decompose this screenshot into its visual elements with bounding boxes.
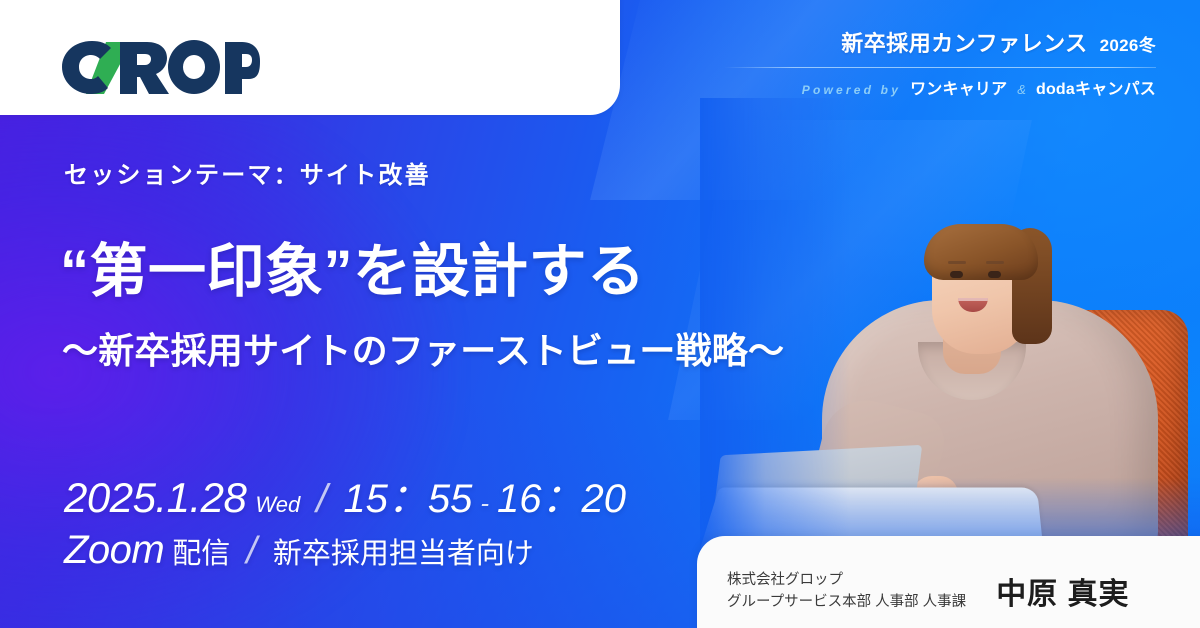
eye-left <box>950 271 963 278</box>
delivery-audience: 新卒採用担当者向け <box>273 530 534 572</box>
eyebrow-right <box>986 261 1004 264</box>
conference-header: 新卒採用カンファレンス 2026冬 Powered by ワンキャリア & do… <box>716 26 1156 99</box>
datetime-separator: / <box>316 477 327 522</box>
powered-by-row: Powered by ワンキャリア & dodaキャンパス <box>716 75 1156 99</box>
speaker-department: グループサービス本部 人事部 人事課 <box>727 591 966 613</box>
speaker-name: 中原 真実 <box>996 569 1129 613</box>
ampersand-separator: & <box>1016 82 1027 97</box>
delivery-platform-suffix: 配信 <box>172 530 230 572</box>
speaker-company: 株式会社グロップ <box>727 569 966 591</box>
delivery-separator: / <box>246 530 257 573</box>
partner-doda-campus: dodaキャンパス <box>1036 75 1156 99</box>
conference-title-row: 新卒採用カンファレンス 2026冬 <box>716 26 1156 58</box>
delivery-info: Zoom 配信 / 新卒採用担当者向け <box>64 528 534 573</box>
event-end-time: 16：20 <box>497 466 626 524</box>
conference-title: 新卒採用カンファレンス <box>841 26 1087 58</box>
event-day-of-week: Wed <box>255 492 300 518</box>
event-date: 2025.1.28 <box>64 474 246 522</box>
session-theme-label: セッションテーマ：サイト改善 <box>64 155 431 190</box>
delivery-platform: Zoom <box>64 528 164 573</box>
event-start-time: 15：55 <box>343 466 472 524</box>
partner-onecareer: ワンキャリア <box>910 75 1007 99</box>
schedule-datetime: 2025.1.28 Wed / 15：55 - 16：20 <box>64 466 626 524</box>
webinar-banner: 新卒採用カンファレンス 2026冬 Powered by ワンキャリア & do… <box>0 0 1200 628</box>
time-range-dash: - <box>480 488 489 519</box>
eyebrow-left <box>948 261 966 264</box>
logo-plate <box>0 0 620 115</box>
session-subtitle: 〜新卒採用サイトのファーストビュー戦略〜 <box>62 322 784 374</box>
eye-right <box>988 271 1001 278</box>
speaker-affiliation: 株式会社グロップ グループサービス本部 人事部 人事課 <box>727 569 966 614</box>
hair-fringe <box>924 224 1038 280</box>
header-divider <box>724 67 1156 68</box>
session-title: “第一印象”を設計する <box>60 240 646 304</box>
speaker-credit-panel: 株式会社グロップ グループサービス本部 人事部 人事課 中原 真実 <box>697 536 1200 628</box>
grop-logo-icon <box>60 36 260 98</box>
grop-logo <box>60 36 260 98</box>
powered-by-label: Powered by <box>802 83 901 97</box>
conference-season: 2026冬 <box>1100 31 1156 56</box>
